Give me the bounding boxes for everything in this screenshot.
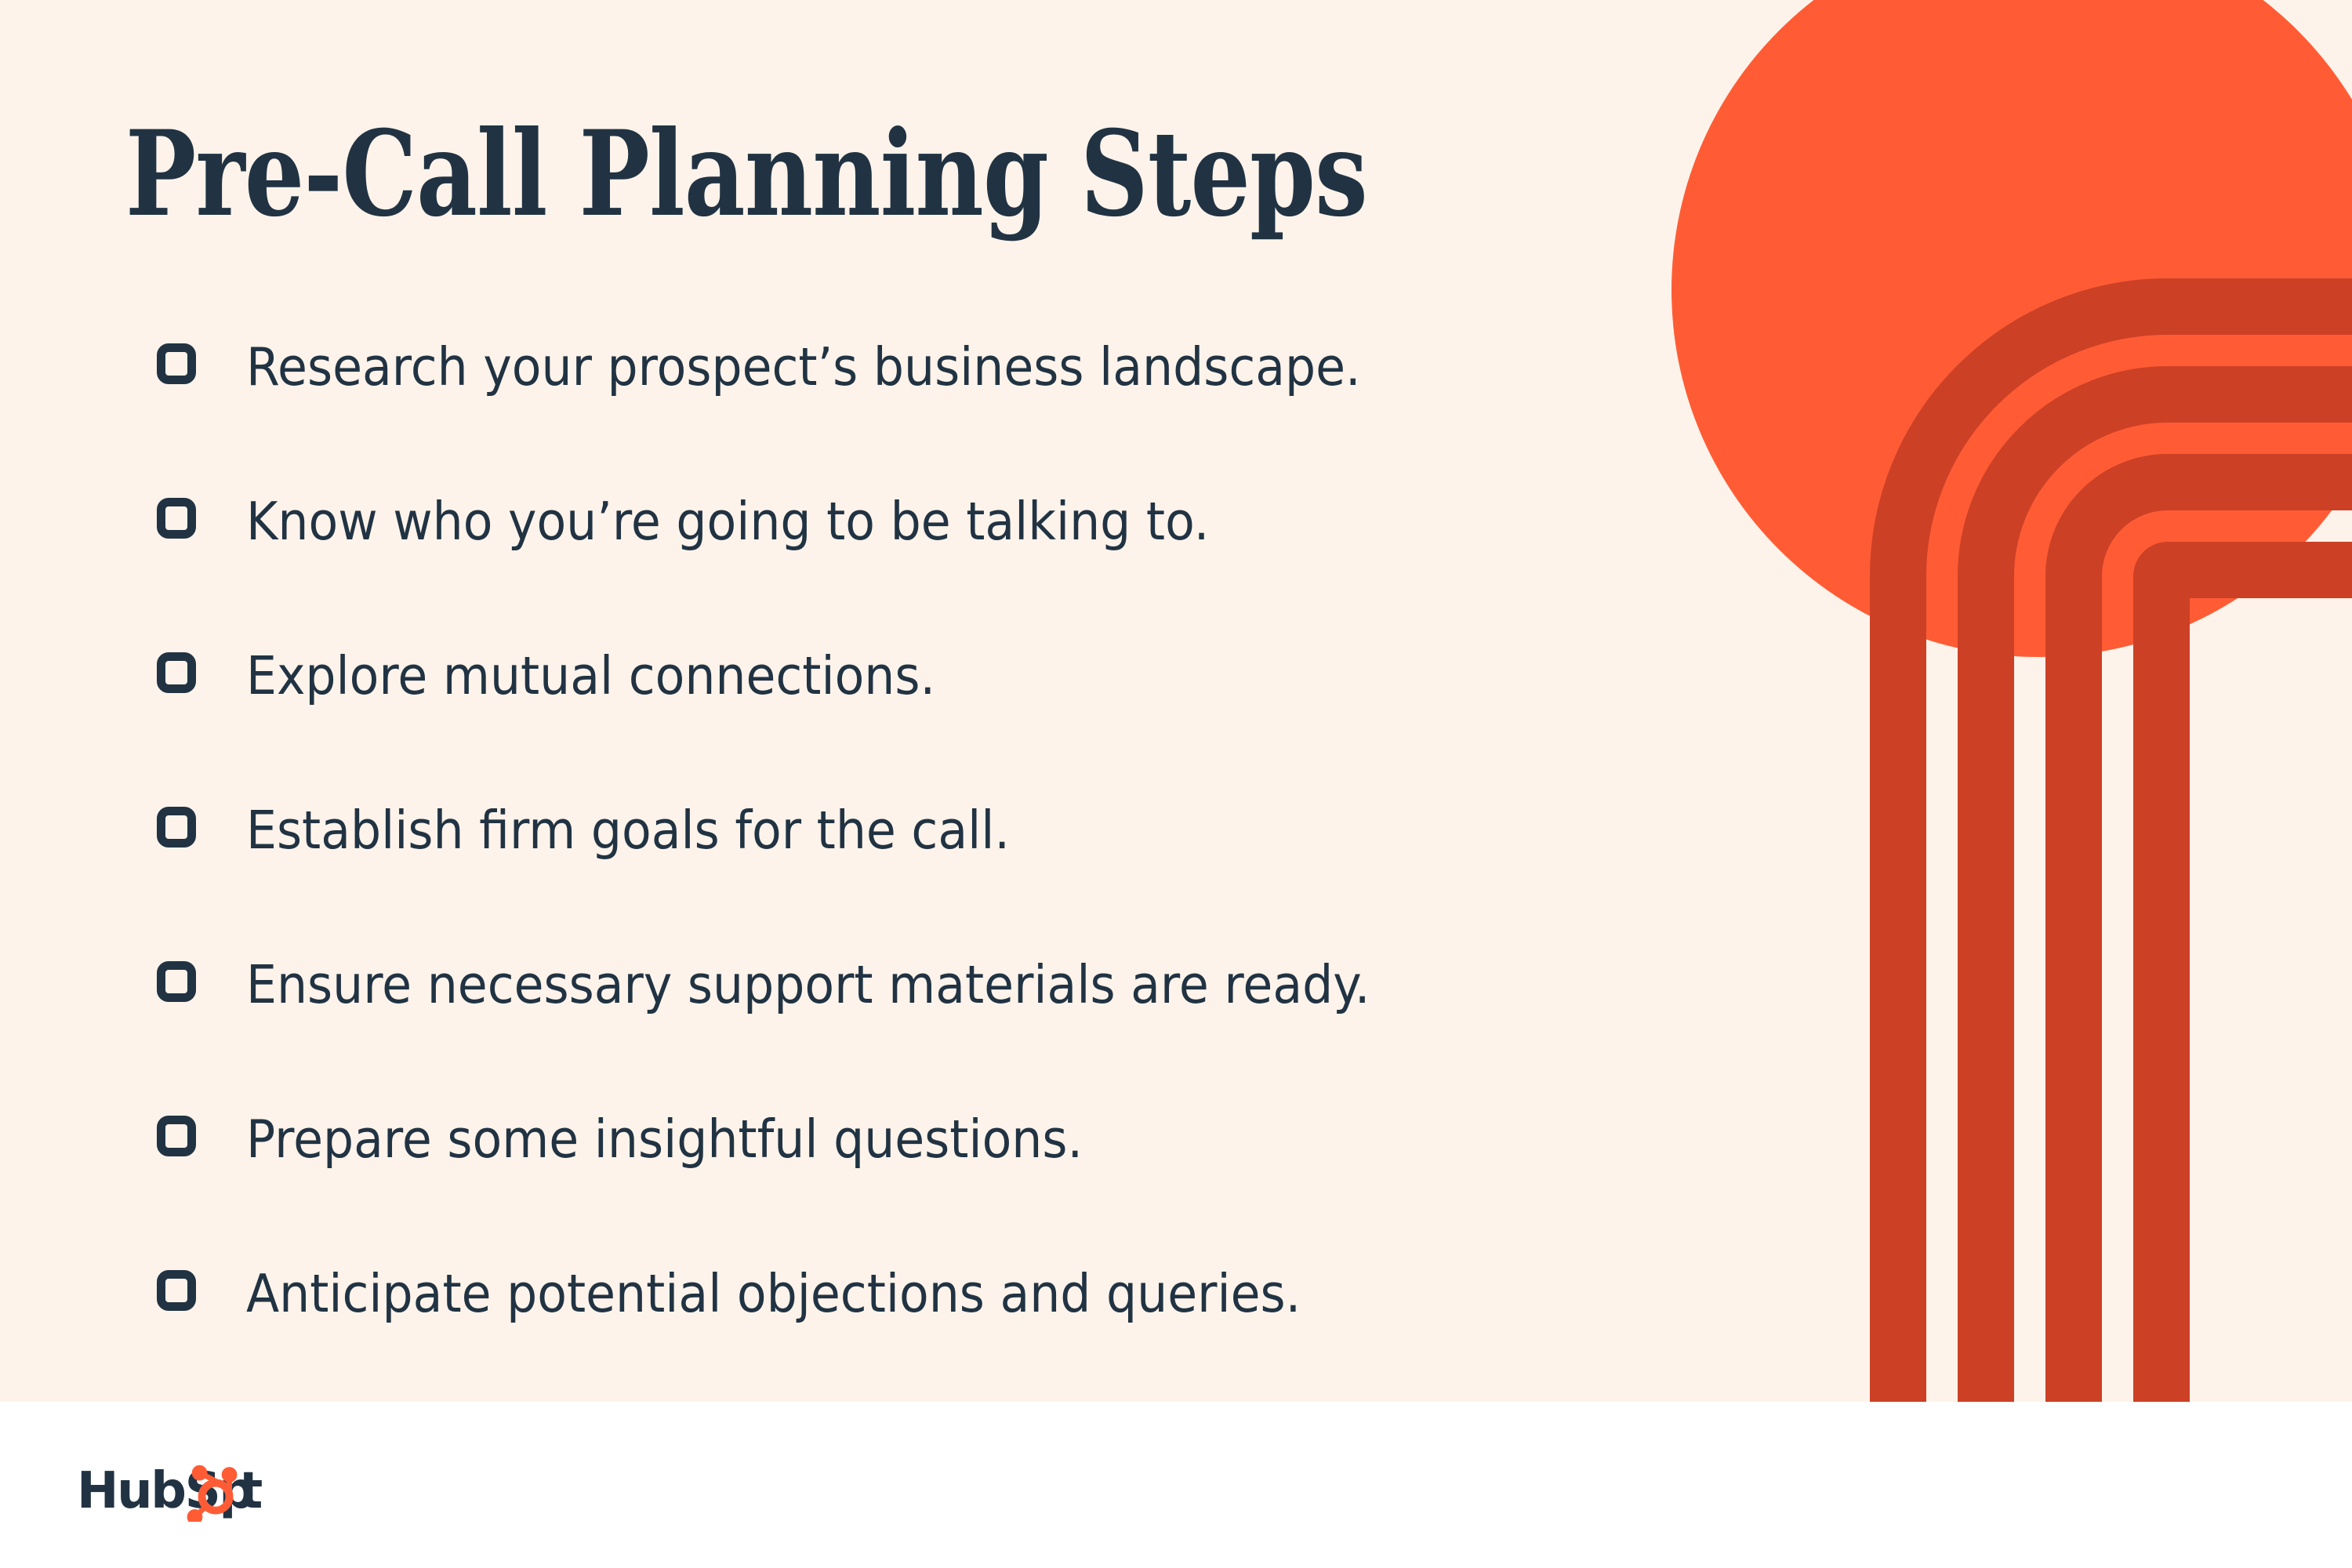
checklist-item-label: Ensure necessary support materials are r… (246, 956, 1370, 1013)
checkbox-icon[interactable] (157, 961, 196, 1002)
checklist-item-label: Prepare some insightful questions. (246, 1111, 1083, 1167)
checklist-item-label: Anticipate potential objections and quer… (246, 1265, 1301, 1322)
checklist-item[interactable]: Ensure necessary support materials are r… (157, 956, 1803, 1036)
checklist-item-label: Explore mutual connections. (246, 648, 935, 704)
infographic-canvas: Pre-Call Planning Steps Research your pr… (0, 0, 2352, 1568)
page-title: Pre-Call Planning Steps (125, 114, 1367, 234)
checklist-item-label: Know who you’re going to be talking to. (246, 493, 1209, 550)
checklist-item[interactable]: Explore mutual connections. (157, 648, 1803, 727)
checklist-item[interactable]: Prepare some insightful questions. (157, 1111, 1803, 1190)
checkbox-icon[interactable] (157, 1270, 196, 1311)
checklist-item-label: Establish firm goals for the call. (246, 802, 1010, 858)
concentric-arch-stripes (1898, 307, 2352, 1402)
checkbox-icon[interactable] (157, 343, 196, 384)
checkbox-icon[interactable] (157, 1116, 196, 1156)
footer-bar (0, 1402, 2352, 1568)
brand-wordmark-suffix: t (239, 1462, 263, 1520)
pre-call-planning-checklist: Research your prospect’s business landsc… (157, 339, 1803, 1345)
hubspot-logo: HubSp t (77, 1457, 285, 1527)
checkbox-icon[interactable] (157, 652, 196, 693)
checklist-item-label: Research your prospect’s business landsc… (246, 339, 1361, 395)
checkbox-icon[interactable] (157, 498, 196, 539)
arch-stripe-3 (2074, 482, 2352, 1402)
main-content-panel: Pre-Call Planning Steps Research your pr… (0, 0, 2352, 1402)
arch-stripe-2 (1986, 394, 2352, 1402)
arch-stripe-1 (1898, 307, 2352, 1402)
checklist-item[interactable]: Research your prospect’s business landsc… (157, 339, 1803, 418)
checkbox-icon[interactable] (157, 807, 196, 848)
checklist-item[interactable]: Anticipate potential objections and quer… (157, 1265, 1803, 1345)
checklist-item[interactable]: Establish firm goals for the call. (157, 802, 1803, 881)
checklist-item[interactable]: Know who you’re going to be talking to. (157, 493, 1803, 572)
arch-stripe-4 (2161, 570, 2352, 1402)
